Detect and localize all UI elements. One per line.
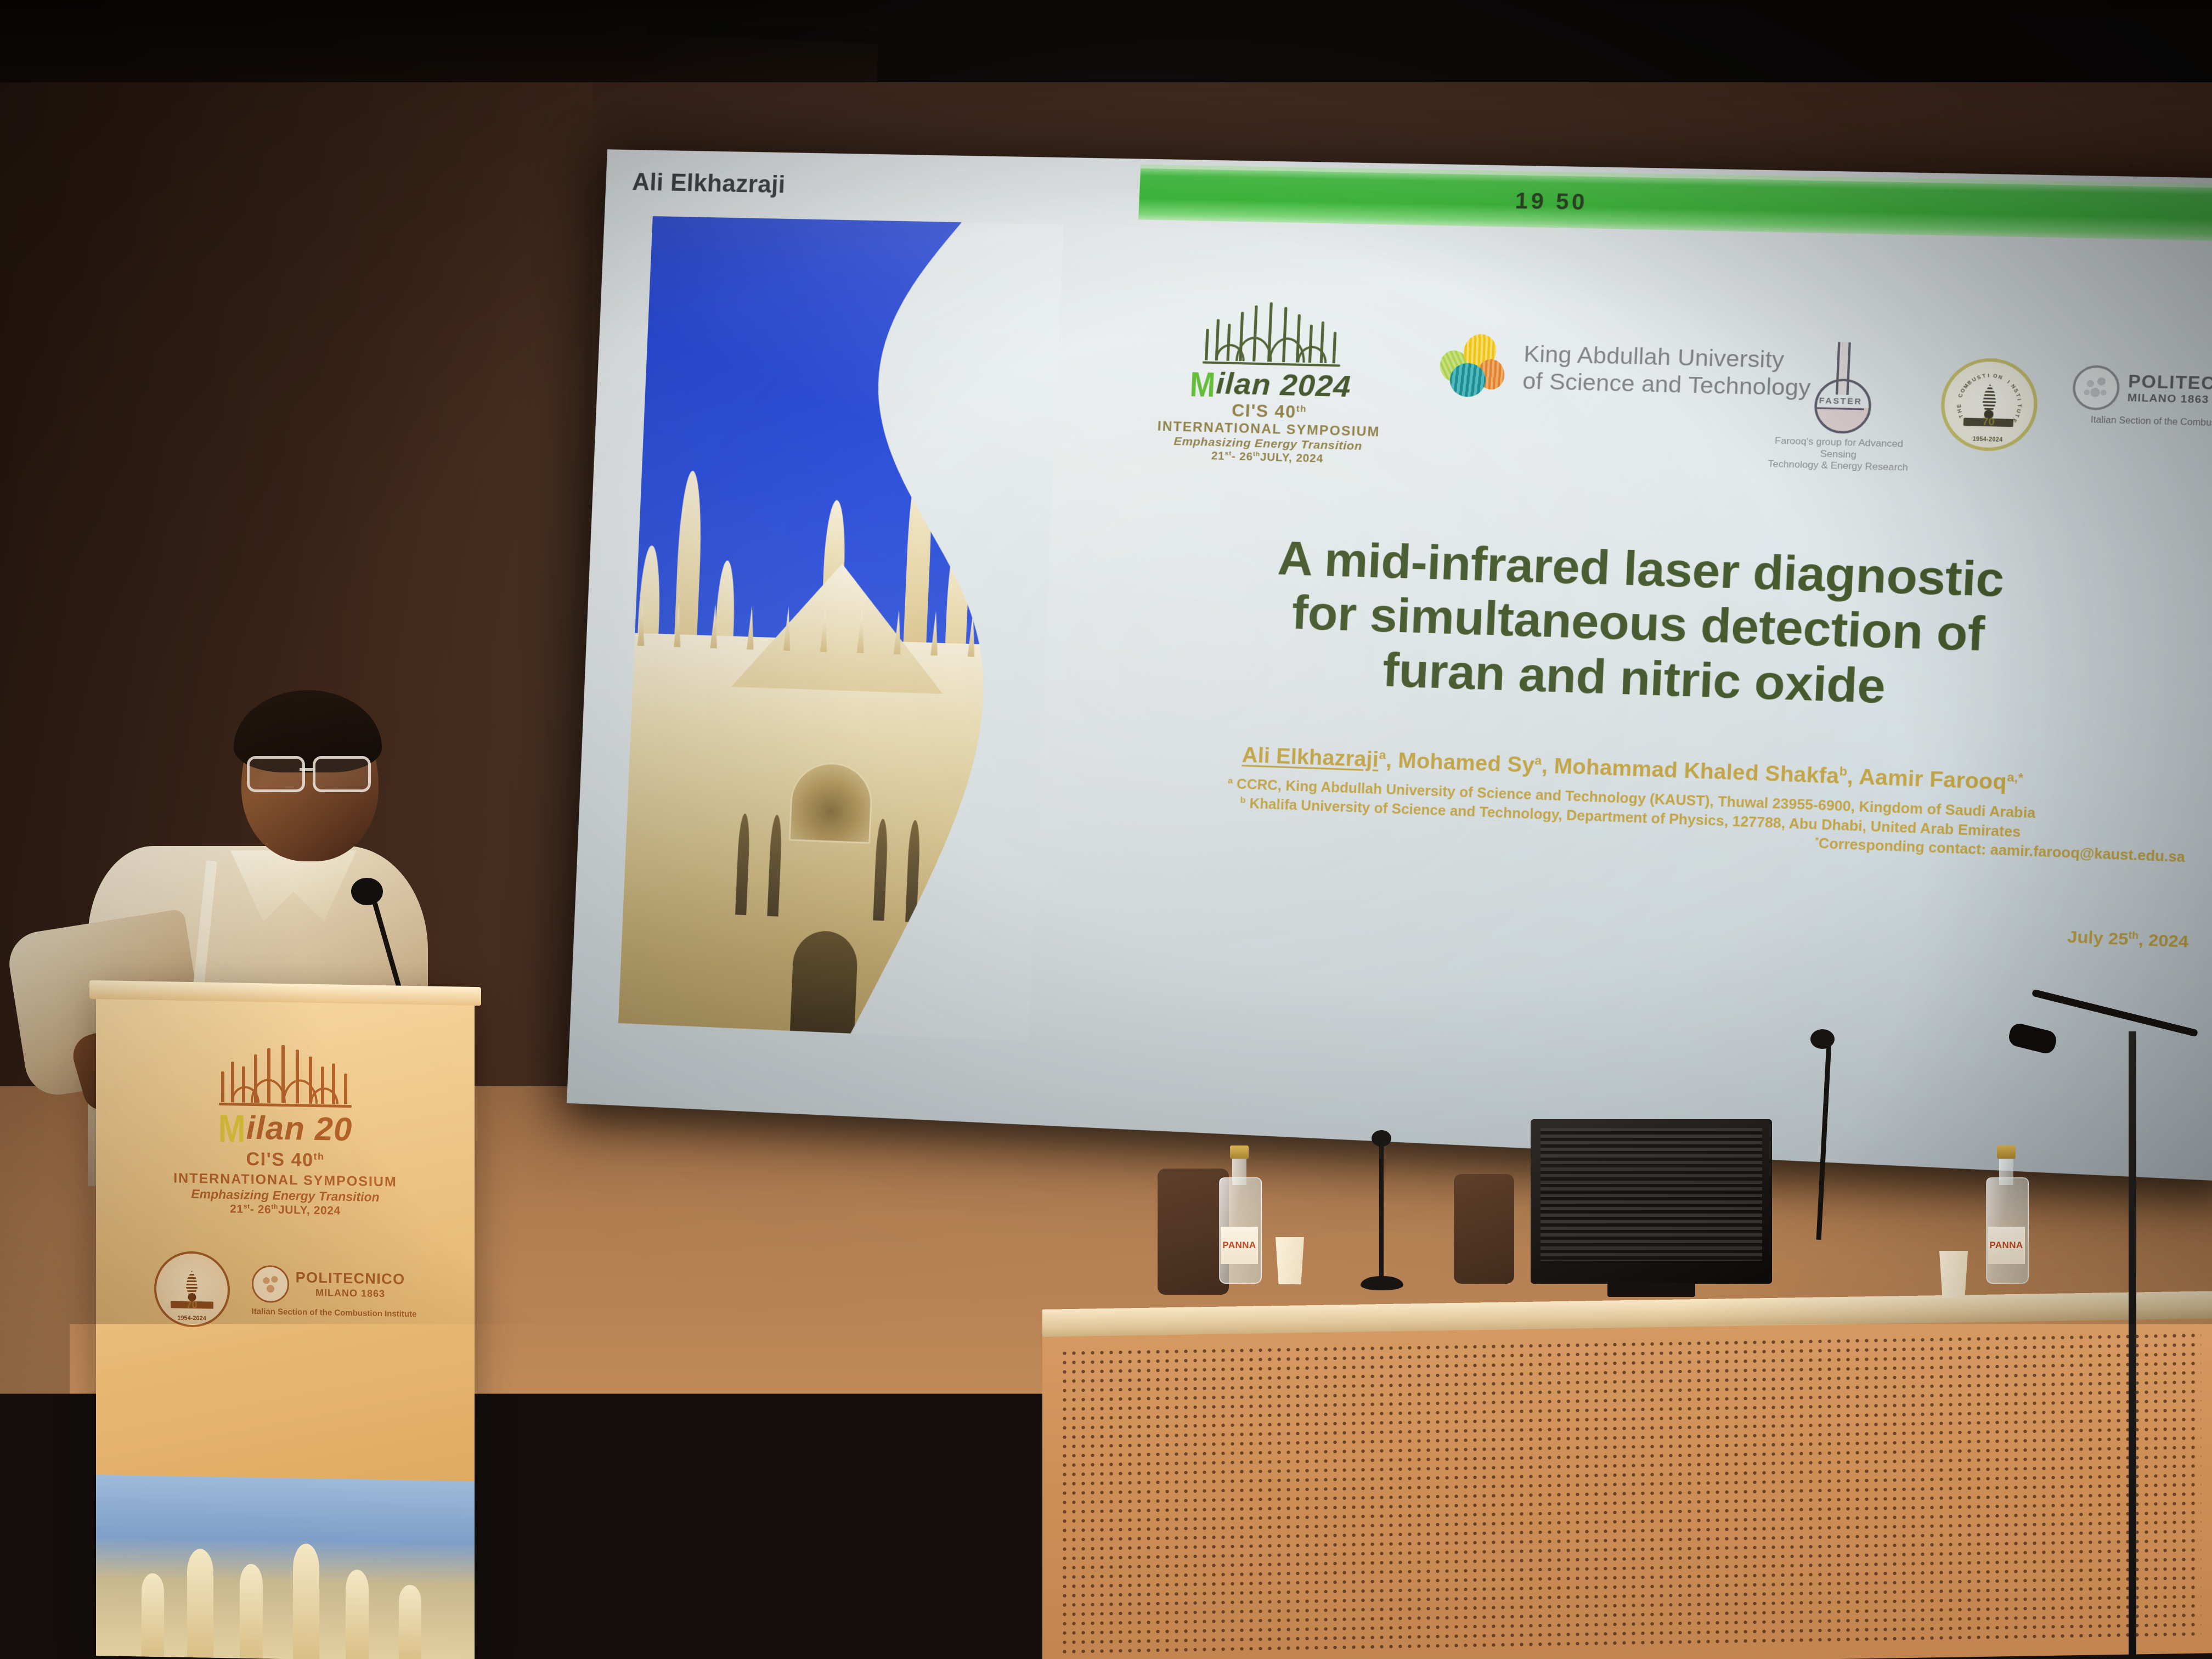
podium-politecnico-sub: MILANO 1863 [296,1286,405,1300]
slide-speaker-label: Ali Elkhazraji [631,168,786,199]
bottle-label: PANNA [1988,1227,2025,1264]
podium-seal-anniversary: 70 [187,1299,198,1311]
water-bottle[interactable]: PANNA [1986,1147,2027,1284]
chair-back [1158,1169,1229,1295]
water-bottle[interactable]: PANNA [1219,1147,1260,1284]
duomo-photo [618,216,1064,1041]
faster-logo: FASTER Farooq's group for Advanced Sensi… [1761,341,1920,475]
milan-wordmark: Milan 2024 [1156,367,1385,403]
slide-date: July 25th, 2024 [2067,927,2189,952]
podium-duomo-spires-icon [217,1044,354,1111]
bottle-label: PANNA [1221,1227,1258,1264]
podium-duomo-photo [96,1475,475,1659]
projection-screen: Ali Elkhazraji 19 50 [567,149,2212,1182]
podium-sponsor-logos: 70 1954-2024 POLITECNICO MILANO 1863 Ita… [118,1250,453,1332]
podium-milan-wordmark: Milan 20 [118,1109,453,1148]
presenter-glasses-icon [247,756,384,788]
kaust-ovals-icon [1438,333,1511,400]
chair-back [1454,1174,1514,1284]
flask-droplet-icon: FASTER [1811,342,1871,435]
podium-seal-years: 1954-2024 [156,1314,228,1322]
kaust-logo: King Abdullah University of Science and … [1438,333,1813,408]
politecnico-logo: POLITECNICO MILANO 1863 Italian Section … [2071,365,2212,431]
podium-symposium-edition: CI'S 40th [118,1147,453,1174]
ci-anniversary: 70 [1982,416,1995,429]
faster-mark-word: FASTER [1812,396,1869,407]
duomo-spires-icon [1200,300,1345,370]
milan-2024-logo: Milan 2024 CI'S 40th INTERNATIONAL SYMPO… [1153,299,1388,467]
mic-stand-pole [2129,1031,2136,1659]
presentation-timer-bar: 19 50 [1138,165,2212,242]
podium-politecnico-logo: POLITECNICO MILANO 1863 Italian Section … [252,1265,417,1318]
podium-politecnico-caption: Italian Section of the Combustion Instit… [252,1306,417,1318]
slide-title: A mid-infrared laser diagnostic for simu… [1084,526,2203,724]
podium: Milan 20 CI'S 40th INTERNATIONAL SYMPOSI… [96,992,475,1659]
politecnico-caption: Italian Section of the Combustion Instit… [2071,415,2212,431]
podium-politecnico-mark-icon [252,1265,289,1302]
combustion-institute-seal-icon: THE COMBUSTION INSTITUTE 70 1954-2024 [1939,357,2039,452]
ci-years: 1954-2024 [1943,436,2033,444]
politecnico-name: POLITECNICO [2128,373,2212,393]
faster-caption: Farooq's group for Advanced Sensing Tech… [1761,435,1916,475]
politecnico-mark-icon [2072,365,2121,411]
podium-combustion-institute-seal-icon: 70 1954-2024 [154,1251,230,1328]
politecnico-sub: MILANO 1863 [2127,392,2212,408]
flame-letter-icon: M [1189,366,1216,403]
conference-photo-scene: Ali Elkhazraji 19 50 [0,0,2212,1659]
podium-politecnico-name: POLITECNICO [296,1270,405,1286]
monitor[interactable] [1531,1119,1772,1284]
podium-flame-letter-icon: M [218,1109,246,1149]
panel-table [1042,1291,2212,1659]
podium-microphone-head [351,878,383,905]
perforated-acoustic-panel [1060,1331,2201,1656]
timer-value: 19 50 [1515,188,1588,215]
floor-microphone-head [1810,1029,1835,1049]
